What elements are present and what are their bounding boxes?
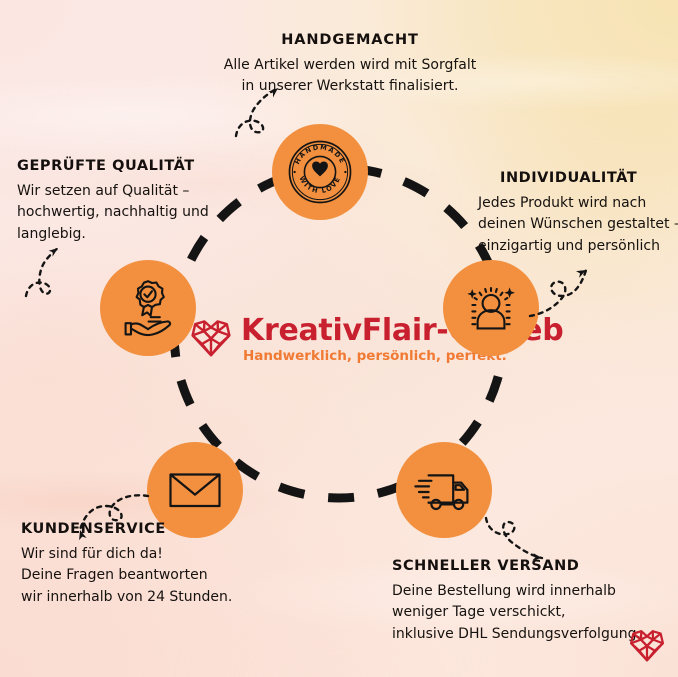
feature-text-kundenservice: KUNDENSERVICE Wir sind für dich da! Dein… bbox=[21, 521, 232, 608]
handmade-with-love-stamp-icon: HANDMADE WITH LOVE bbox=[286, 138, 354, 206]
feature-line: Wir setzen auf Qualität – bbox=[17, 181, 209, 202]
svg-text:HANDMADE: HANDMADE bbox=[293, 143, 347, 165]
brand-tagline: Handwerklich, persönlich, perfekt. bbox=[243, 350, 563, 364]
feature-line: einzigartig und persönlich bbox=[478, 236, 678, 257]
feature-line: Deine Bestellung wird innerhalb bbox=[392, 581, 641, 602]
feature-title: KUNDENSERVICE bbox=[21, 521, 232, 537]
feature-line: langlebig. bbox=[17, 224, 209, 245]
feature-text-schneller-versand: SCHNELLER VERSAND Deine Bestellung wird … bbox=[392, 558, 641, 645]
feature-text-geprüfte-qualitaet: GEPRÜFTE QUALITÄT Wir setzen auf Qualitä… bbox=[17, 158, 209, 245]
feature-text-handgemacht: HANDGEMACHT Alle Artikel werden wird mit… bbox=[200, 32, 500, 98]
svg-text:WITH LOVE: WITH LOVE bbox=[298, 175, 343, 195]
feature-circle-geprüfte-qualitaet[interactable] bbox=[100, 260, 196, 356]
geometric-heart-icon bbox=[628, 628, 666, 667]
feature-text-individualitaet: INDIVIDUALITÄT Jedes Produkt wird nach d… bbox=[478, 170, 678, 257]
shining-person-icon bbox=[459, 276, 523, 340]
feature-circle-handgemacht[interactable]: HANDMADE WITH LOVE bbox=[272, 124, 368, 220]
infographic-canvas: KreativFlair-Ortlieb Handwerklich, persö… bbox=[0, 0, 678, 677]
feature-circle-schneller-versand[interactable] bbox=[396, 442, 492, 538]
geometric-heart-icon bbox=[189, 318, 233, 362]
feature-line: Deine Fragen beantworten bbox=[21, 565, 232, 586]
feature-line: inklusive DHL Sendungsverfolgung. bbox=[392, 624, 641, 645]
feature-title: INDIVIDUALITÄT bbox=[500, 170, 678, 186]
feature-line: weniger Tage verschickt, bbox=[392, 602, 641, 623]
feature-title: HANDGEMACHT bbox=[200, 32, 500, 48]
feature-line: deinen Wünschen gestaltet – bbox=[478, 214, 678, 235]
feature-line: Jedes Produkt wird nach bbox=[478, 193, 678, 214]
delivery-truck-icon bbox=[411, 461, 477, 519]
feature-line: Wir sind für dich da! bbox=[21, 544, 232, 565]
hand-holding-award-rosette-icon bbox=[117, 277, 179, 339]
feature-line: Alle Artikel werden wird mit Sorgfalt bbox=[200, 55, 500, 76]
envelope-icon bbox=[166, 461, 224, 519]
feature-title: GEPRÜFTE QUALITÄT bbox=[17, 158, 209, 174]
feature-circle-individualitaet[interactable] bbox=[443, 260, 539, 356]
feature-line: hochwertig, nachhaltig und bbox=[17, 202, 209, 223]
feature-title: SCHNELLER VERSAND bbox=[392, 558, 641, 574]
feature-line: in unserer Werkstatt finalisiert. bbox=[200, 76, 500, 97]
feature-line: wir innerhalb von 24 Stunden. bbox=[21, 587, 232, 608]
